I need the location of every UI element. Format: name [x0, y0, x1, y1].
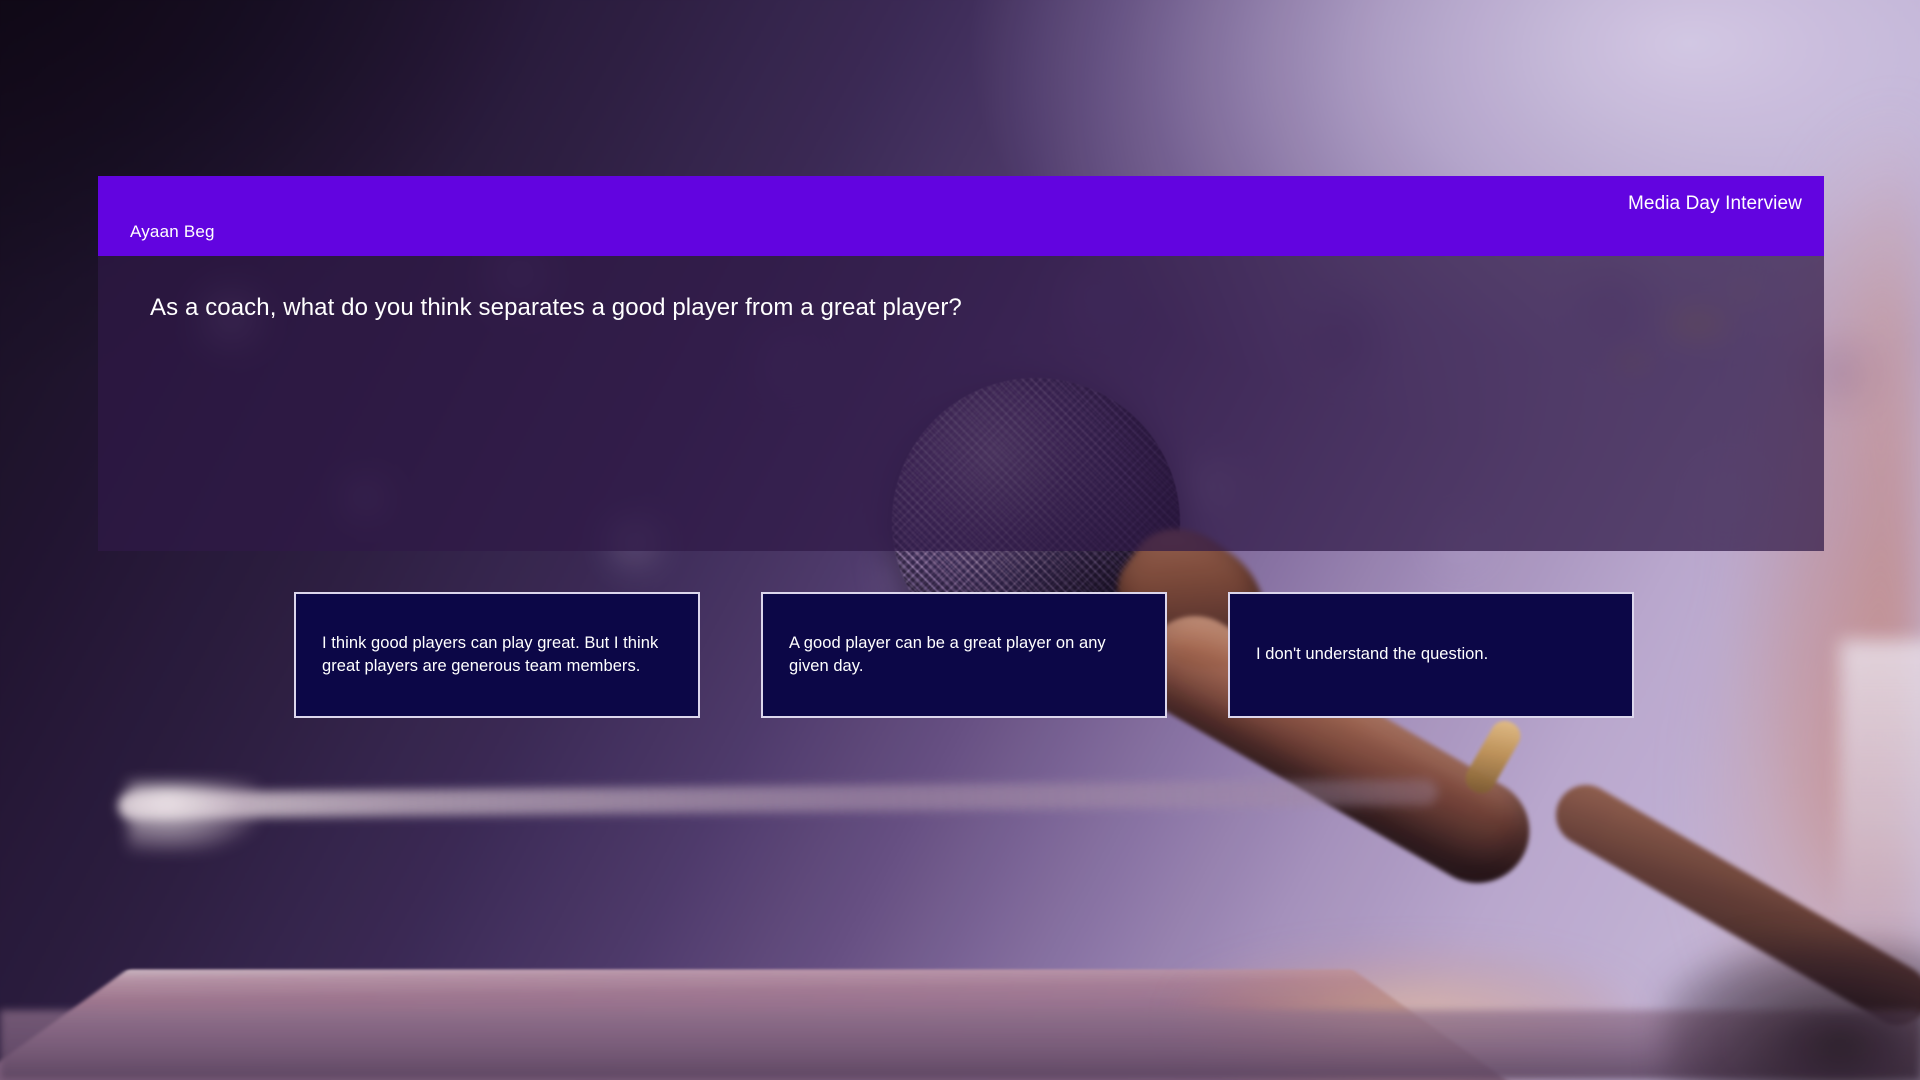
answer-option-1[interactable]: I think good players can play great. But…: [294, 592, 700, 718]
question-panel: As a coach, what do you think separates …: [98, 256, 1824, 551]
question-text: As a coach, what do you think separates …: [150, 292, 1784, 324]
answer-option-3[interactable]: I don't understand the question.: [1228, 592, 1634, 718]
answer-option-label: I don't understand the question.: [1256, 643, 1488, 666]
answer-options-list: I think good players can play great. But…: [294, 592, 1634, 718]
answer-option-2[interactable]: A good player can be a great player on a…: [761, 592, 1167, 718]
dialogue-header-bar: Ayaan Beg Media Day Interview: [98, 176, 1824, 256]
answer-option-label: I think good players can play great. But…: [322, 632, 672, 679]
dialogue-scene: Ayaan Beg Media Day Interview As a coach…: [0, 0, 1920, 1080]
scene-title: Media Day Interview: [1628, 194, 1802, 213]
speaker-name: Ayaan Beg: [130, 223, 215, 244]
answer-option-label: A good player can be a great player on a…: [789, 632, 1139, 679]
